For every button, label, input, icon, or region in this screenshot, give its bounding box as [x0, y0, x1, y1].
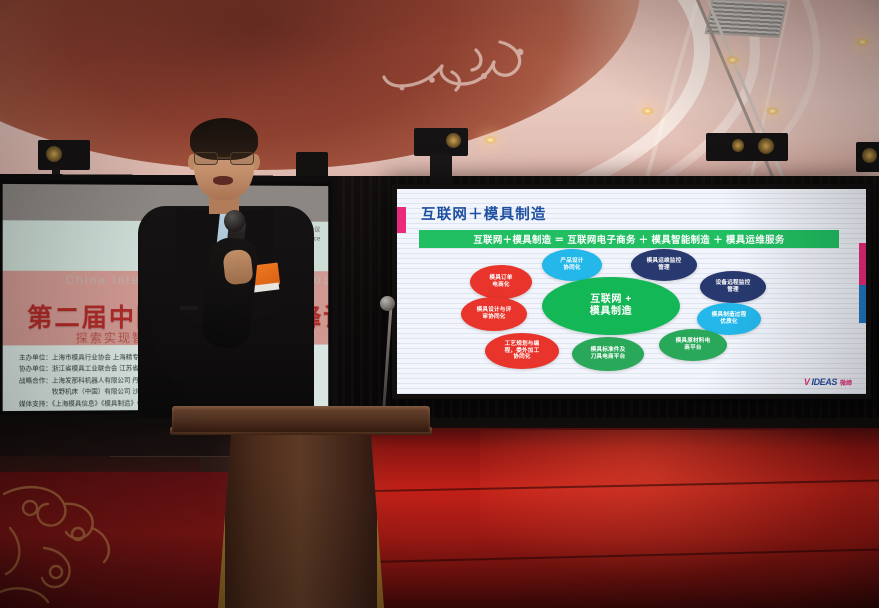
logo-mark-rest: IDEAS: [811, 377, 837, 387]
ceiling-downlight: [484, 136, 497, 144]
eyeglass-lens-right: [230, 152, 254, 165]
center-node-line2: 模具制造: [590, 306, 632, 318]
slide-accent-left: [397, 207, 406, 233]
presenter-mouth: [213, 176, 233, 185]
diagram-node-mould-ops-monitoring: 模具运维监控 管理: [631, 249, 697, 281]
stage-light-lens: [758, 138, 774, 154]
gooseneck-mic-head-icon: [380, 296, 395, 311]
stage-light-lens: [862, 148, 877, 163]
node-label-line3: 协同化: [505, 354, 540, 361]
node-label-line1: 产品设计: [560, 258, 583, 265]
node-label-line2: 管理: [647, 265, 682, 272]
stage-light-fixture: [414, 128, 468, 156]
stage-light-fixture: [38, 140, 90, 170]
node-label-line2: 商平台: [676, 345, 711, 352]
node-label-line1: 模具设计与评: [477, 307, 512, 314]
node-label-line2: 电商化: [489, 282, 512, 289]
diagram-node-process-planning-outsourcing: 工艺规划与编 程，委外加工 协同化: [485, 333, 559, 369]
stage-light-yoke: [430, 154, 452, 188]
stage-light-lens: [446, 133, 461, 148]
slide-title: 互联网＋模具制造: [421, 203, 547, 224]
presenter-pocket: [180, 306, 198, 310]
stage-light-fixture: [856, 142, 879, 172]
podium-top-surface: [172, 406, 430, 432]
slide-vendor-logo: V IDEAS 微缔: [804, 377, 852, 387]
logo-mark-cn: 微缔: [840, 378, 852, 387]
ceiling-downlight: [766, 107, 779, 115]
diagram-node-equipment-remote-monitoring: 设备远程监控 管理: [700, 271, 766, 303]
diagram-center-node: 互联网 + 模具制造: [542, 277, 680, 335]
diagram-node-raw-material-platform: 模具原材料电 商平台: [659, 329, 727, 361]
ceiling-plaster-ornament-icon: [380, 36, 555, 106]
node-label-line2: 优质化: [712, 319, 747, 326]
logo-mark-v: V: [804, 377, 810, 387]
presentation-screen: 互联网＋模具制造 互联网＋模具制造 ＝ 互联网电子商务 ＋ 模具智能制造 ＋ 模…: [392, 184, 871, 399]
node-label-line1: 模具标准件及: [591, 347, 626, 354]
diagram-node-standard-parts-tooling-platform: 模具标准件及 刀具电商平台: [572, 337, 644, 371]
slide-surface: 互联网＋模具制造 互联网＋模具制造 ＝ 互联网电子商务 ＋ 模具智能制造 ＋ 模…: [397, 189, 866, 394]
center-node-line1: 互联网 +: [590, 294, 632, 306]
node-label-line1: 模具原材料电: [676, 338, 711, 345]
node-label-line2: 审协同化: [477, 314, 512, 321]
ceiling-downlight: [641, 107, 654, 115]
node-label-line1: 设备远程监控: [716, 280, 751, 287]
eyeglasses-icon: [192, 152, 256, 165]
presenter: [120, 110, 350, 440]
stage-light-fixture: [706, 133, 788, 161]
patterned-carpet: [0, 472, 240, 608]
node-label-line1: 工艺规划与编: [505, 341, 540, 348]
node-label-line2: 协同化: [560, 265, 583, 272]
node-label-line1: 模具运维监控: [647, 258, 682, 265]
conference-photo-scene: 中国制造2025系列会议 Made in china 2025 Conferen…: [0, 0, 879, 608]
podium-body: [218, 432, 384, 608]
slide-diagram: 模具订单 电商化 产品设计 协同化 模具运维监控 管理: [397, 249, 866, 379]
stage-light-lens: [46, 146, 62, 162]
stage-light-lens: [732, 139, 744, 152]
node-label-line2: 刀具电商平台: [591, 354, 626, 361]
ceiling-downlight: [856, 38, 869, 46]
slide-equation-text: 互联网＋模具制造 ＝ 互联网电子商务 ＋ 模具智能制造 ＋ 模具运维服务: [473, 232, 784, 246]
carpet-scroll-motif-icon: [0, 472, 240, 608]
diagram-node-mould-design-review-collaboration: 模具设计与评 审协同化: [461, 297, 527, 331]
eyeglass-lens-left: [194, 152, 218, 165]
presenter-hand: [222, 249, 253, 286]
node-label-line1: 模具订单: [489, 275, 512, 282]
node-label-line1: 模具制造过程: [712, 312, 747, 319]
eyeglass-bridge: [218, 157, 230, 159]
node-label-line2: 管理: [716, 287, 751, 294]
ceiling-downlight: [726, 56, 739, 64]
diagram-node-product-design-collaboration: 产品设计 协同化: [542, 249, 602, 281]
slide-equation-bar: 互联网＋模具制造 ＝ 互联网电子商务 ＋ 模具智能制造 ＋ 模具运维服务: [419, 230, 839, 248]
diagram-node-mould-order-ecommerce: 模具订单 电商化: [470, 265, 532, 299]
